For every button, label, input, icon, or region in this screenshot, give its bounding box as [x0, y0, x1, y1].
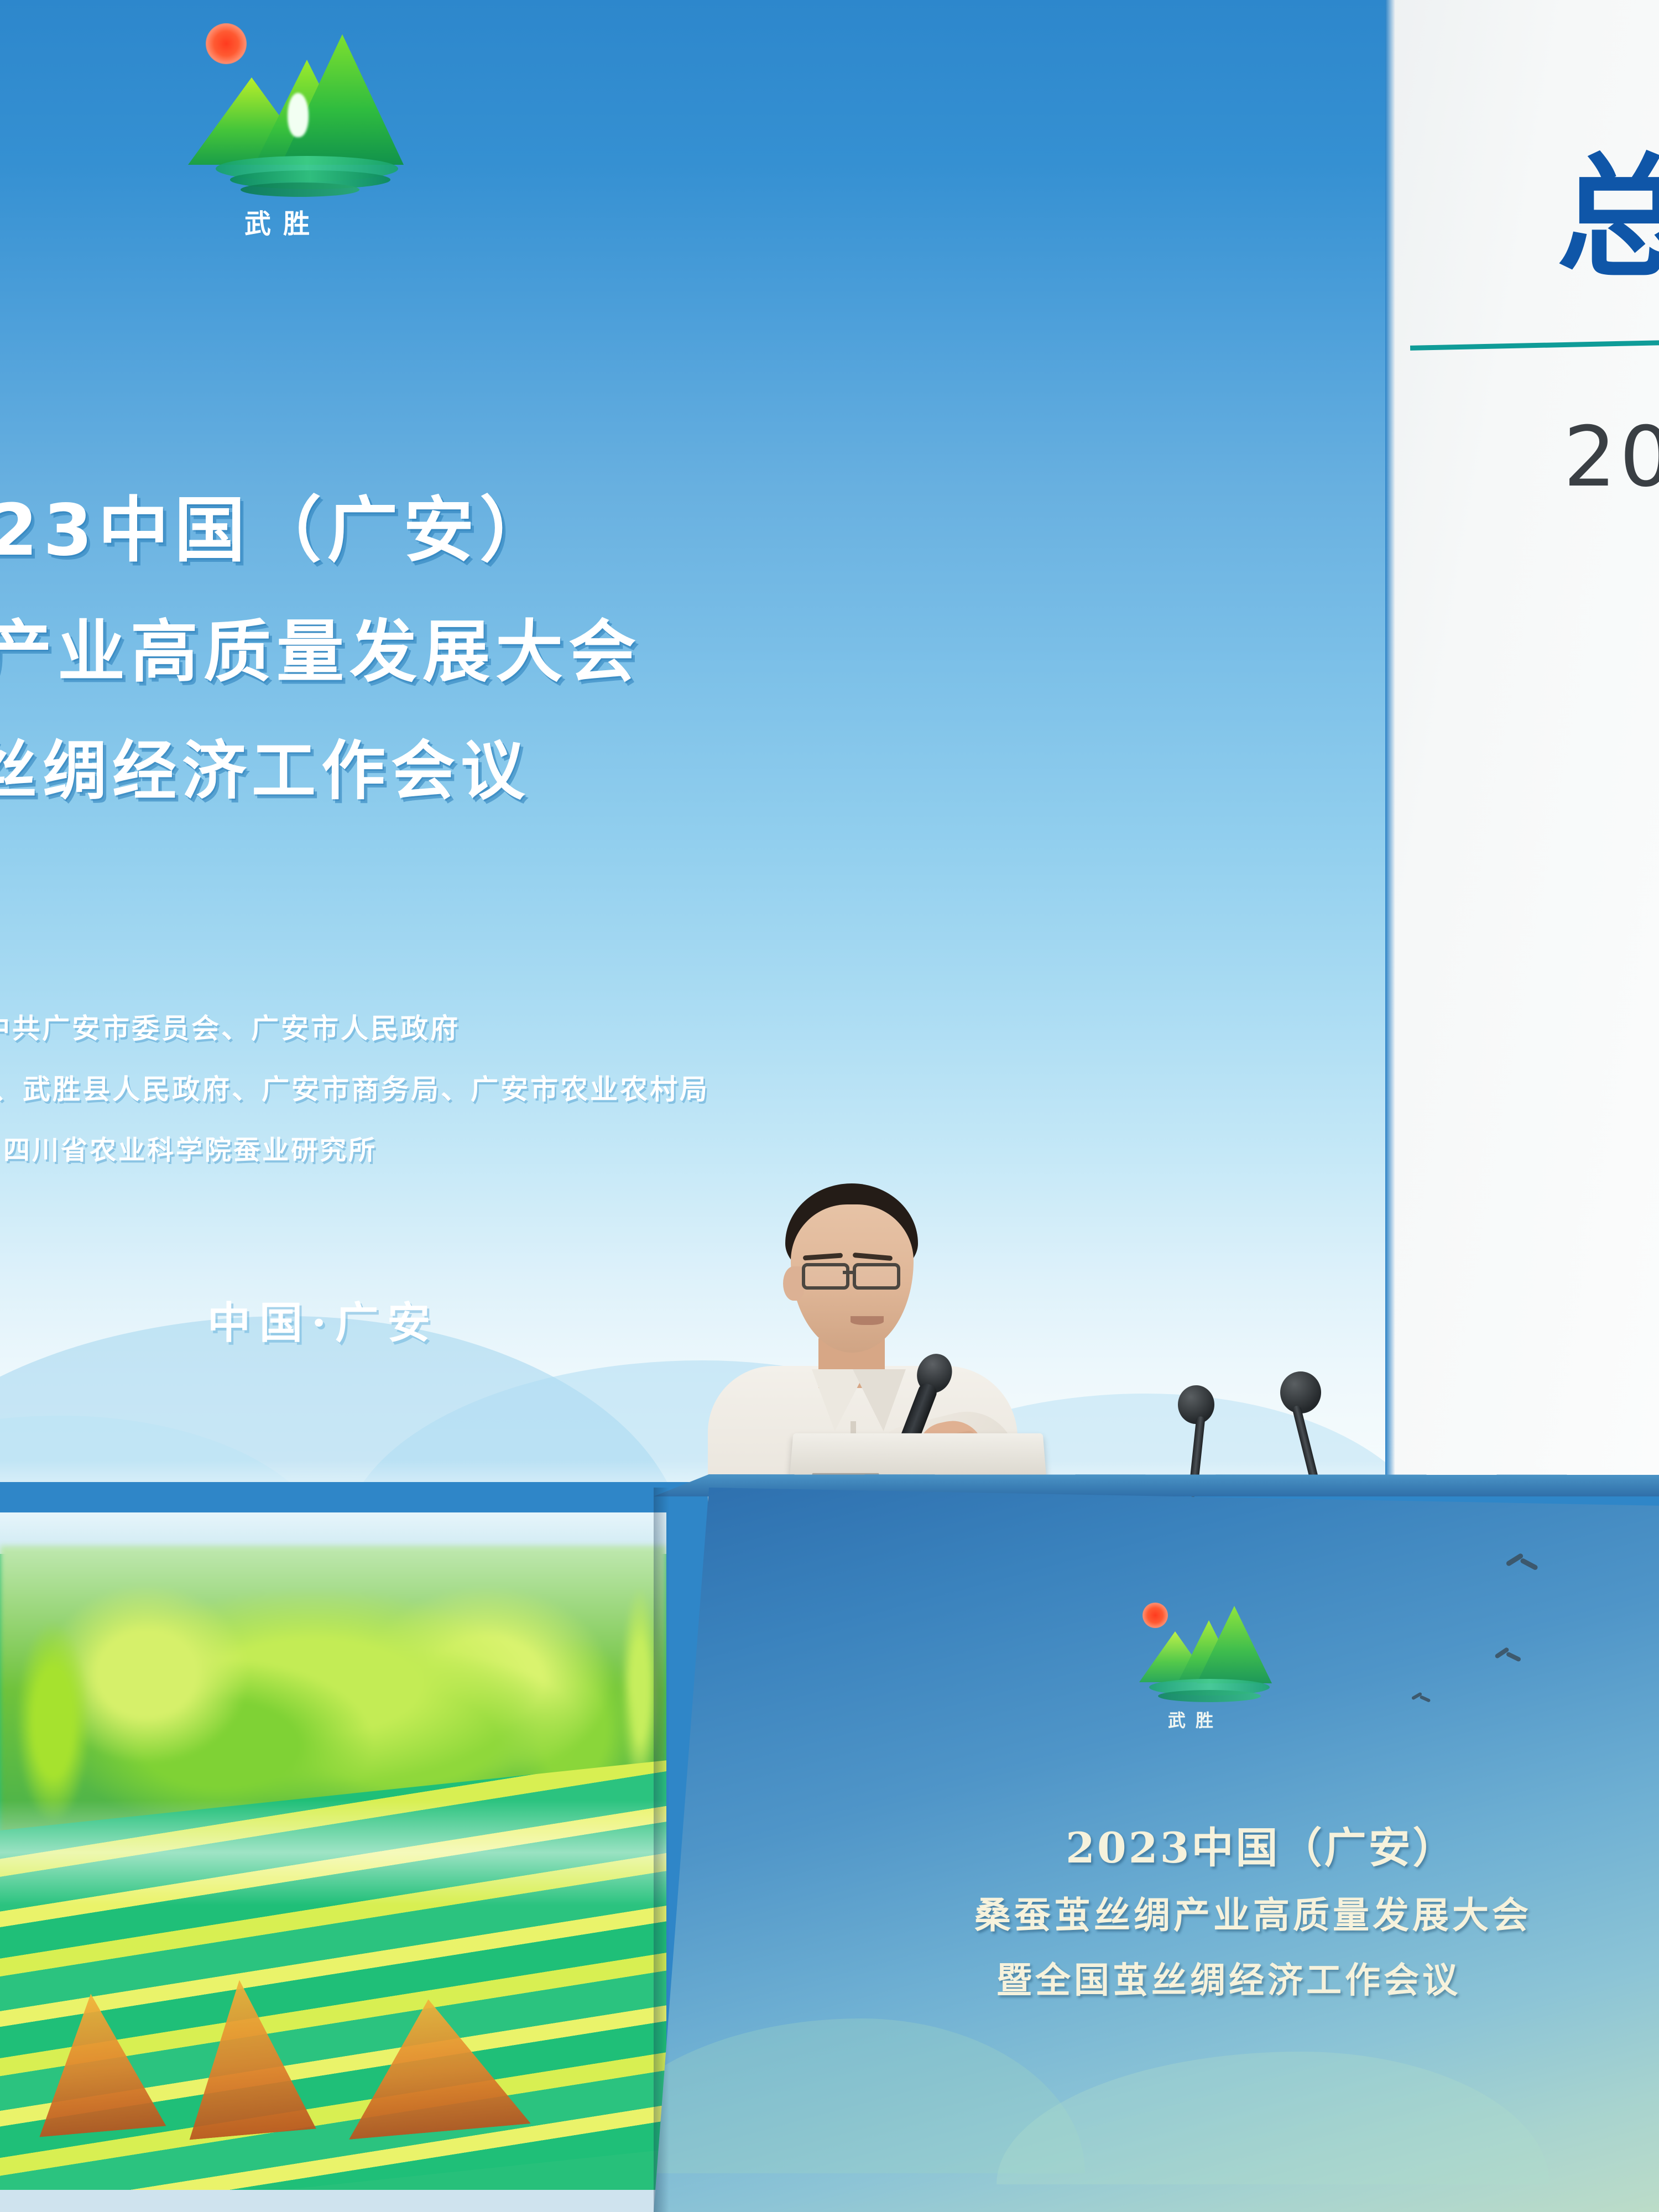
- conference-backdrop-screen: 武胜 023中国（广安） 绸产业高质量发展大会 茧丝绸经济工作会议 会、中共广安…: [0, 0, 1385, 1482]
- wusheng-logo: 武胜: [127, 11, 415, 260]
- eyeglasses-bridge: [843, 1271, 854, 1274]
- podium-logo: 武胜: [1129, 1598, 1295, 1747]
- podium-mountain-graphic: [997, 2052, 1550, 2184]
- speaker-mouth: [851, 1316, 884, 1325]
- right-screen-headline: 总: [1557, 111, 1659, 302]
- right-screen-divider-rule: [1410, 340, 1659, 351]
- sun-icon: [1142, 1603, 1168, 1628]
- haystack: [176, 1975, 316, 2140]
- eyeglasses-icon: [802, 1263, 849, 1290]
- right-screen-year-fragment: 20: [1563, 409, 1659, 505]
- speaker-ear: [783, 1266, 804, 1301]
- podium-logo-wordmark: 武胜: [1168, 1707, 1262, 1732]
- sun-icon: [206, 23, 247, 64]
- backdrop-title-line-2: 绸产业高质量发展大会: [0, 597, 641, 695]
- mountain-peak-right-icon: [1197, 1606, 1272, 1683]
- screen-edge-shadow: [1385, 0, 1395, 1482]
- water-ripple: [1158, 1690, 1261, 1702]
- water-ripple: [241, 182, 359, 197]
- backdrop-title-line-3: 茧丝绸经济工作会议: [0, 719, 530, 812]
- podium-title-line-2: 桑蚕茧丝绸产业高质量发展大会: [974, 1886, 1532, 1939]
- bird-icon: [1505, 1554, 1538, 1579]
- podium-front-panel: 武胜 2023中国（广安） 桑蚕茧丝绸产业高质量发展大会 暨全国茧丝绸经济工作会…: [654, 1488, 1659, 2212]
- secondary-white-screen: 总 20: [1385, 0, 1659, 1482]
- organizer-line-1: 会、中共广安市委员会、广安市人民政府: [0, 1006, 460, 1046]
- stage-photo: 武胜 023中国（广安） 绸产业高质量发展大会 茧丝绸经济工作会议 会、中共广安…: [0, 0, 1659, 2212]
- bird-icon: [1411, 1692, 1430, 1707]
- podium-title-line-3: 暨全国茧丝绸经济工作会议: [997, 1952, 1461, 2003]
- field-haze: [0, 1800, 666, 1905]
- mulberry-field-scene: [0, 1512, 666, 2212]
- haystack: [337, 1991, 531, 2140]
- backdrop-title-line-1: 023中国（广安）: [0, 473, 556, 575]
- organizer-line-3: 协会、四川省农业科学院蚕业研究所: [0, 1128, 377, 1167]
- organizer-line-2: 委员会、武胜县人民政府、广安市商务局、广安市农业农村局: [0, 1067, 709, 1107]
- podium-side-edge: [654, 1488, 669, 2212]
- logo-wordmark: 武胜: [244, 202, 333, 241]
- bird-icon: [1494, 1648, 1521, 1669]
- eyeglasses-icon: [853, 1263, 900, 1290]
- backdrop-place-label: 中国·广安: [207, 1288, 439, 1350]
- podium-title-line-1: 2023中国（广安）: [1066, 1814, 1457, 1875]
- haystack: [28, 1988, 166, 2137]
- stage-floor: [0, 2190, 669, 2212]
- mountain-highlight: [288, 93, 309, 137]
